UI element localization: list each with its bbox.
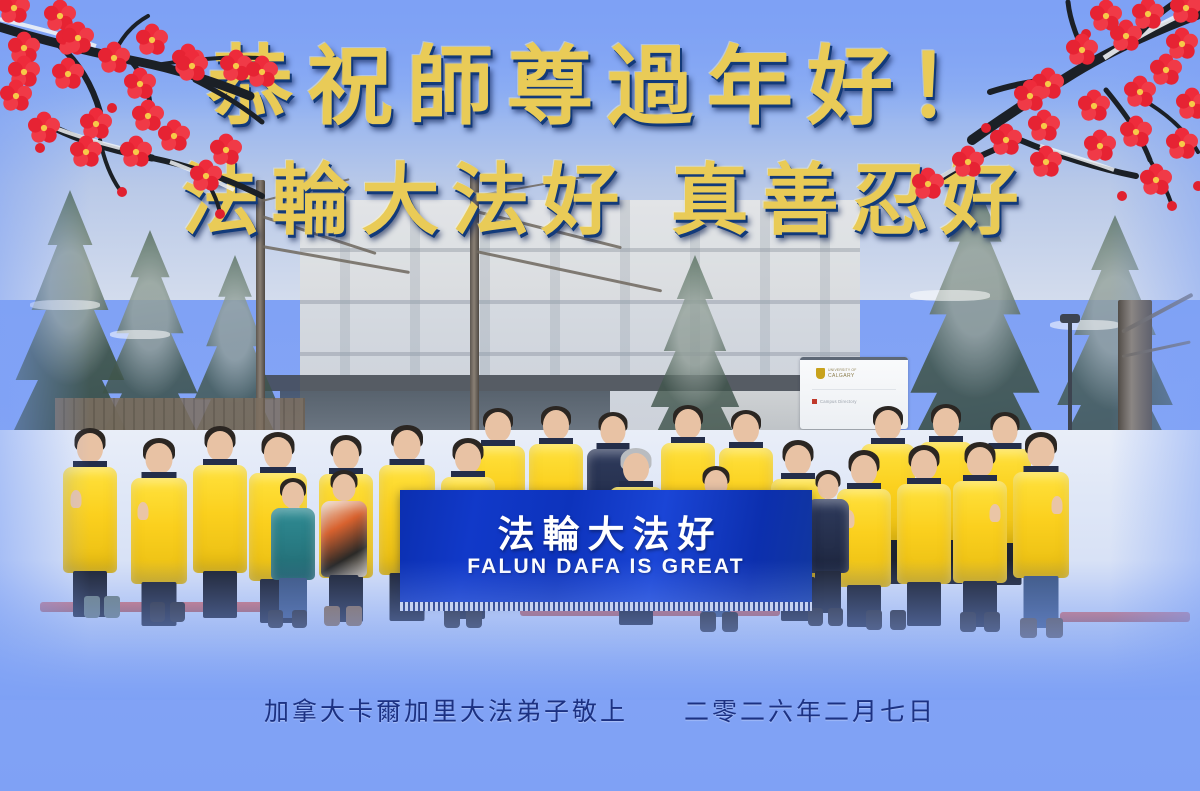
sign-institution-line2: CALGARY xyxy=(828,373,857,379)
signature-date: 二零二六年二月七日 xyxy=(684,697,936,726)
signature-organization: 加拿大卡爾加里大法弟子敬上 xyxy=(264,697,628,726)
university-of-calgary-logo: UNIVERSITY OF CALGARY xyxy=(816,368,857,379)
shield-icon xyxy=(816,368,825,379)
directory-marker-icon xyxy=(812,399,817,404)
new-year-greeting-card: UNIVERSITY OF CALGARY Campus Directory xyxy=(0,0,1200,791)
photo-bottom-fade xyxy=(0,560,1200,700)
street-lamp-post xyxy=(1068,318,1072,448)
headline-line-2: 法輪大法好 真善忍好 xyxy=(0,160,1200,242)
headline-line-1: 恭祝師尊過年好！ xyxy=(0,42,1200,132)
sign-institution-line1: UNIVERSITY OF xyxy=(828,368,857,372)
signature-line: 加拿大卡爾加里大法弟子敬上 二零二六年二月七日 xyxy=(0,692,1200,728)
sign-directory-label: Campus Directory xyxy=(820,399,857,404)
banner-chinese-text: 法輪大法好 xyxy=(498,516,723,553)
street-lamp-head xyxy=(1060,314,1080,323)
